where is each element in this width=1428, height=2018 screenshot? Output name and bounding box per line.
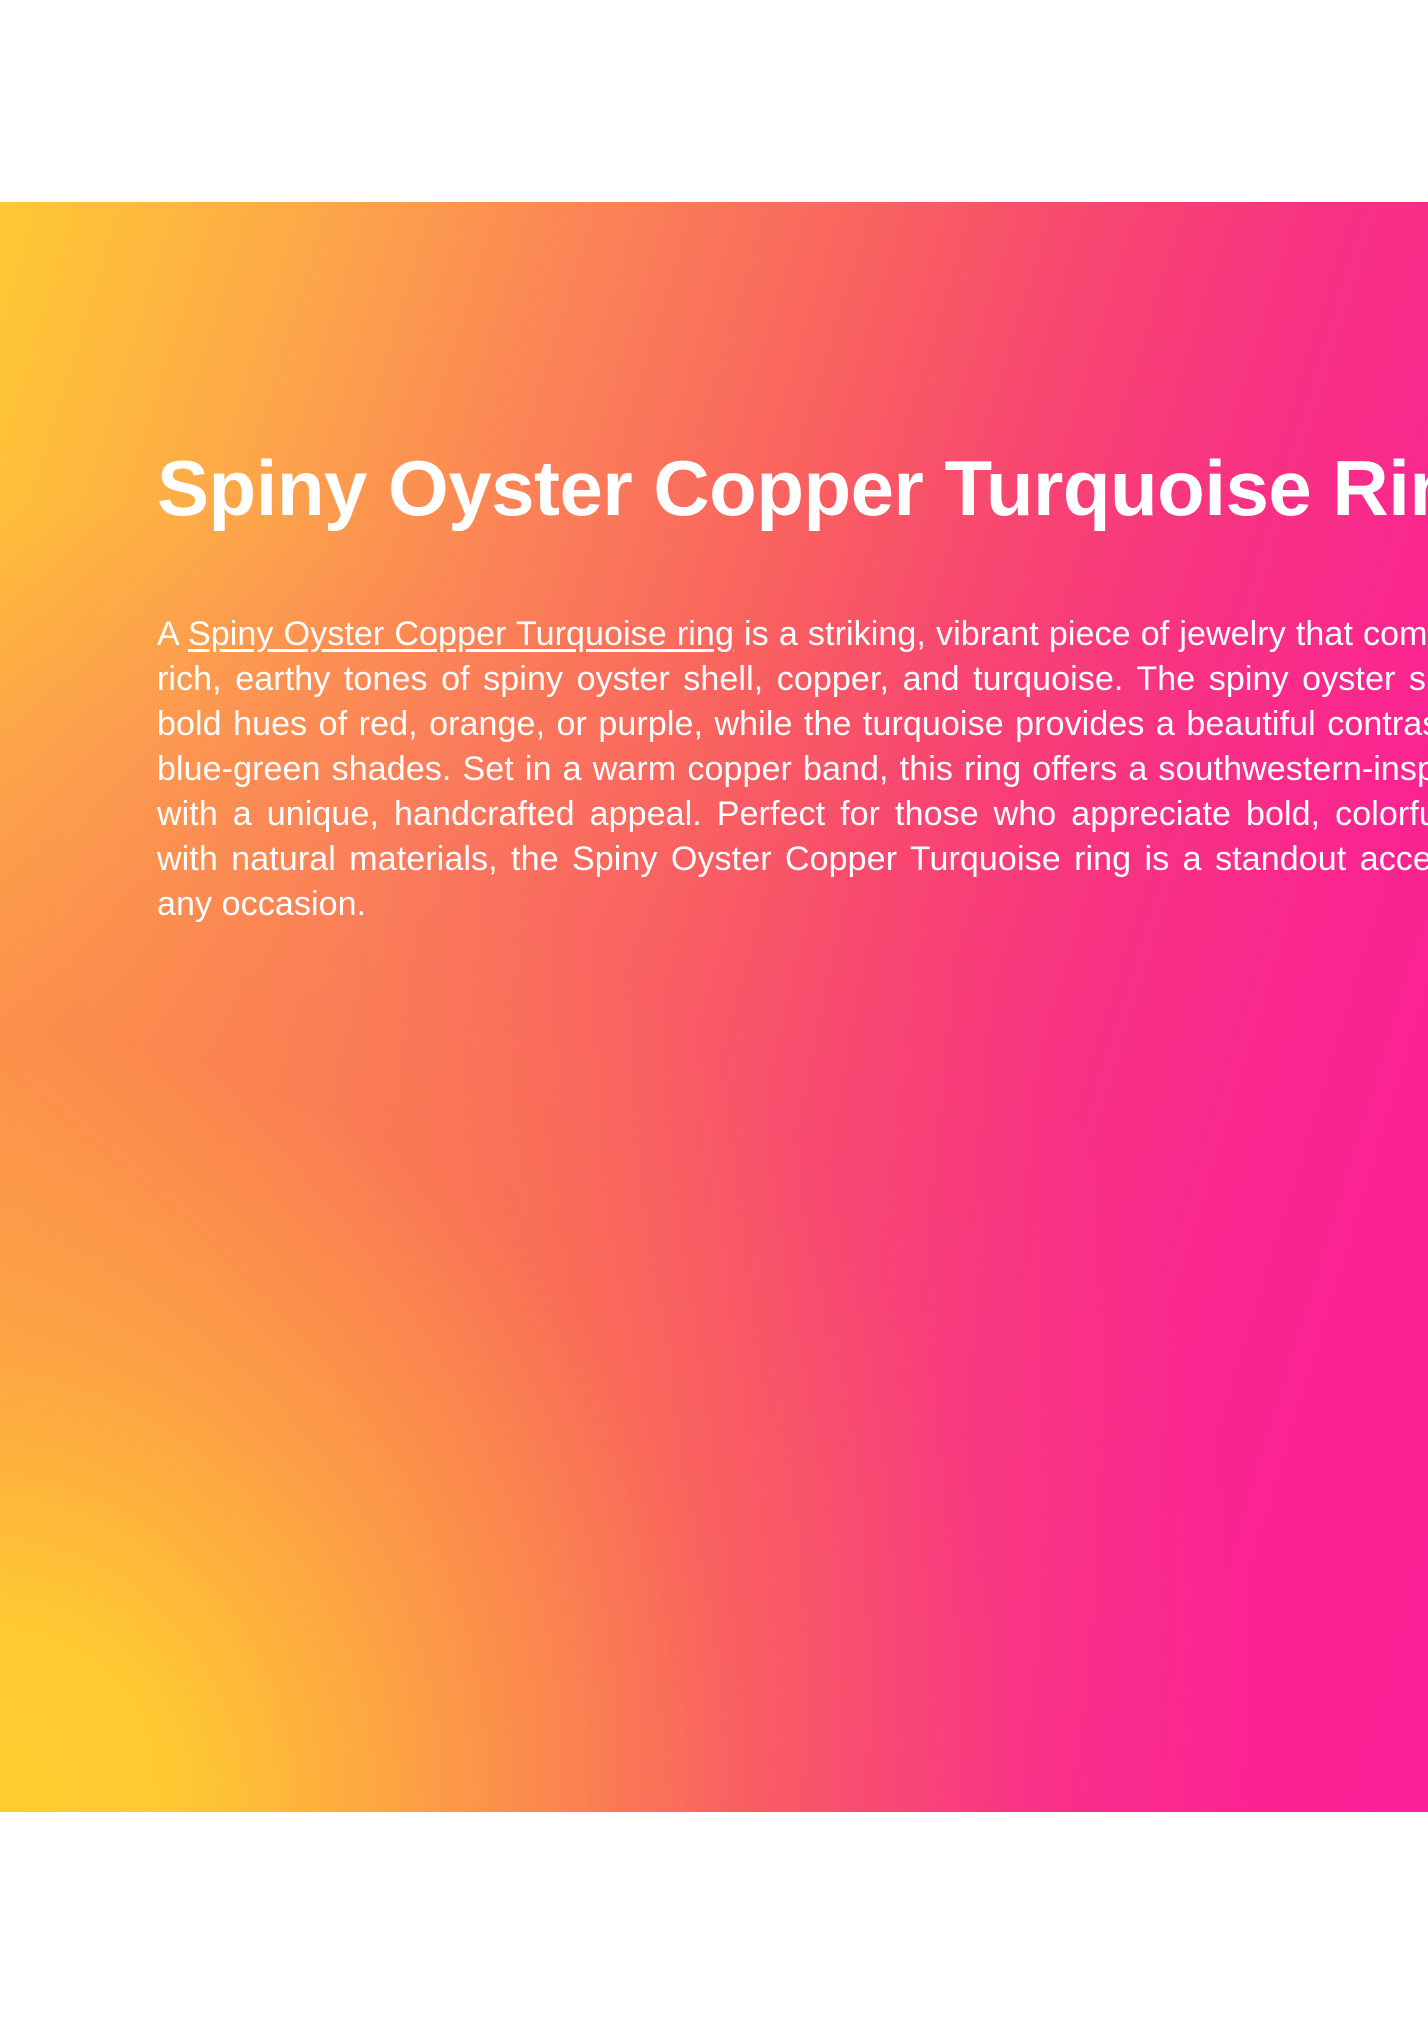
hero-gradient-section: Spiny Oyster Copper Turquoise Ring A Spi… <box>0 202 1428 1812</box>
spiny-oyster-copper-turquoise-ring-link[interactable]: Spiny Oyster Copper Turquoise ring <box>188 615 734 653</box>
page-title: Spiny Oyster Copper Turquoise Ring <box>157 445 1428 532</box>
hero-description: A Spiny Oyster Copper Turquoise ring is … <box>157 612 1428 927</box>
description-text-before-link: A <box>157 615 188 653</box>
page-canvas: Spiny Oyster Copper Turquoise Ring A Spi… <box>0 0 1428 2018</box>
description-text-after-link: is a striking, vibrant piece of jewelry … <box>157 615 1428 923</box>
